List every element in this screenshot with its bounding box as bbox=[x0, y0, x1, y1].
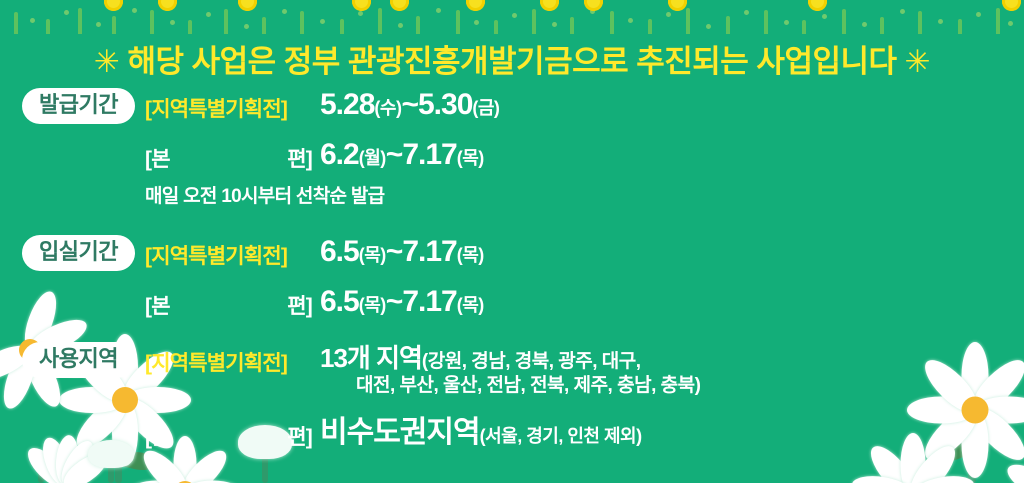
value-issue-special-dates: 5.28(수)~5.30(금) bbox=[320, 88, 499, 122]
value-checkin-main-dates: 6.5(목)~7.17(목) bbox=[320, 285, 484, 319]
date-start-weekday: (목) bbox=[359, 295, 386, 315]
date-range-tilde: ~ bbox=[386, 285, 403, 318]
pill-slot: 사용지역 bbox=[0, 342, 145, 378]
tag-main-edition: [본 편] bbox=[145, 285, 320, 320]
region-exclusion-note: (서울, 경기, 인천 제외) bbox=[480, 426, 642, 446]
label-pill-usage-region: 사용지역 bbox=[22, 342, 135, 378]
date-range-tilde: ~ bbox=[401, 88, 418, 121]
flower-stem bbox=[180, 455, 186, 483]
date-start: 5.28 bbox=[320, 88, 374, 121]
tag-main-open: [본 bbox=[145, 421, 170, 451]
date-end-weekday: (목) bbox=[457, 148, 484, 168]
grass-decoration bbox=[0, 0, 1024, 34]
row-checkin-main: [본 편] 6.5(목)~7.17(목) bbox=[0, 285, 1024, 320]
tag-special-exhibition: [지역특별기획전] bbox=[145, 235, 320, 270]
value-checkin-special-dates: 6.5(목)~7.17(목) bbox=[320, 235, 484, 269]
region-list-line2: 대전, 부산, 울산, 전남, 전북, 제주, 충남, 충북) bbox=[320, 374, 700, 398]
date-range-tilde: ~ bbox=[386, 138, 403, 171]
date-range-tilde: ~ bbox=[386, 235, 403, 268]
row-checkin-special: 입실기간 [지역특별기획전] 6.5(목)~7.17(목) bbox=[0, 235, 1024, 271]
row-issue-special: 발급기간 [지역특별기획전] 5.28(수)~5.30(금) bbox=[0, 88, 1024, 124]
row-region-special: 사용지역 [지역특별기획전] 13개 지역(강원, 경남, 경북, 광주, 대구… bbox=[0, 342, 1024, 398]
value-issue-main-dates: 6.2(월)~7.17(목) bbox=[320, 138, 484, 172]
region-name: 비수도권지역 bbox=[320, 416, 480, 449]
date-end-weekday: (목) bbox=[457, 295, 484, 315]
page-title: ✳ 해당 사업은 정부 관광진흥개발기금으로 추진되는 사업입니다 ✳ bbox=[0, 36, 1024, 81]
date-start: 6.2 bbox=[320, 138, 359, 171]
tag-main-edition: [본 편] bbox=[145, 416, 320, 451]
label-pill-issue-period: 발급기간 bbox=[22, 88, 135, 124]
tag-main-open: [본 bbox=[145, 143, 170, 173]
tag-special-exhibition: [지역특별기획전] bbox=[145, 88, 320, 123]
date-end: 5.30 bbox=[418, 88, 472, 121]
promo-banner: ✳ 해당 사업은 정부 관광진흥개발기금으로 추진되는 사업입니다 ✳ 발급기간… bbox=[0, 0, 1024, 483]
tag-main-edition: [본 편] bbox=[145, 138, 320, 173]
label-pill-checkin-period: 입실기간 bbox=[22, 235, 135, 271]
pill-slot: 입실기간 bbox=[0, 235, 145, 271]
flower-stem bbox=[108, 462, 114, 483]
date-end-weekday: (금) bbox=[472, 98, 499, 118]
pill-slot: 발급기간 bbox=[0, 88, 145, 124]
tag-special-exhibition: [지역특별기획전] bbox=[145, 342, 320, 377]
flower-leaf bbox=[120, 448, 157, 474]
date-end: 7.17 bbox=[402, 138, 456, 171]
date-start-weekday: (수) bbox=[374, 98, 401, 118]
tag-main-close: 편] bbox=[287, 290, 312, 320]
tag-main-close: 편] bbox=[287, 421, 312, 451]
tag-main-open: [본 bbox=[145, 290, 170, 320]
tag-main-close: 편] bbox=[287, 143, 312, 173]
flower-stem bbox=[38, 455, 44, 483]
date-end-weekday: (목) bbox=[457, 245, 484, 265]
date-start-weekday: (월) bbox=[359, 148, 386, 168]
row-issue-main: [본 편] 6.2(월)~7.17(목) bbox=[0, 138, 1024, 173]
region-list-line1: (강원, 경남, 경북, 광주, 대구, bbox=[422, 351, 641, 372]
date-end: 7.17 bbox=[402, 235, 456, 268]
row-region-main: [본 편] 비수도권지역(서울, 경기, 인천 제외) bbox=[0, 416, 1024, 451]
flower-stem bbox=[262, 452, 268, 483]
value-region-special: 13개 지역(강원, 경남, 경북, 광주, 대구, 대전, 부산, 울산, 전… bbox=[320, 342, 700, 398]
date-start: 6.5 bbox=[320, 285, 359, 318]
region-count: 13개 지역 bbox=[320, 343, 422, 373]
date-start: 6.5 bbox=[320, 235, 359, 268]
date-start-weekday: (목) bbox=[359, 245, 386, 265]
value-region-main: 비수도권지역(서울, 경기, 인천 제외) bbox=[320, 416, 642, 450]
row-issue-note: 매일 오전 10시부터 선착순 발급 bbox=[0, 181, 1024, 215]
issue-note: 매일 오전 10시부터 선착순 발급 bbox=[145, 181, 384, 208]
date-end: 7.17 bbox=[402, 285, 456, 318]
info-rows: 발급기간 [지역특별기획전] 5.28(수)~5.30(금) [본 편] 6.2… bbox=[0, 88, 1024, 451]
